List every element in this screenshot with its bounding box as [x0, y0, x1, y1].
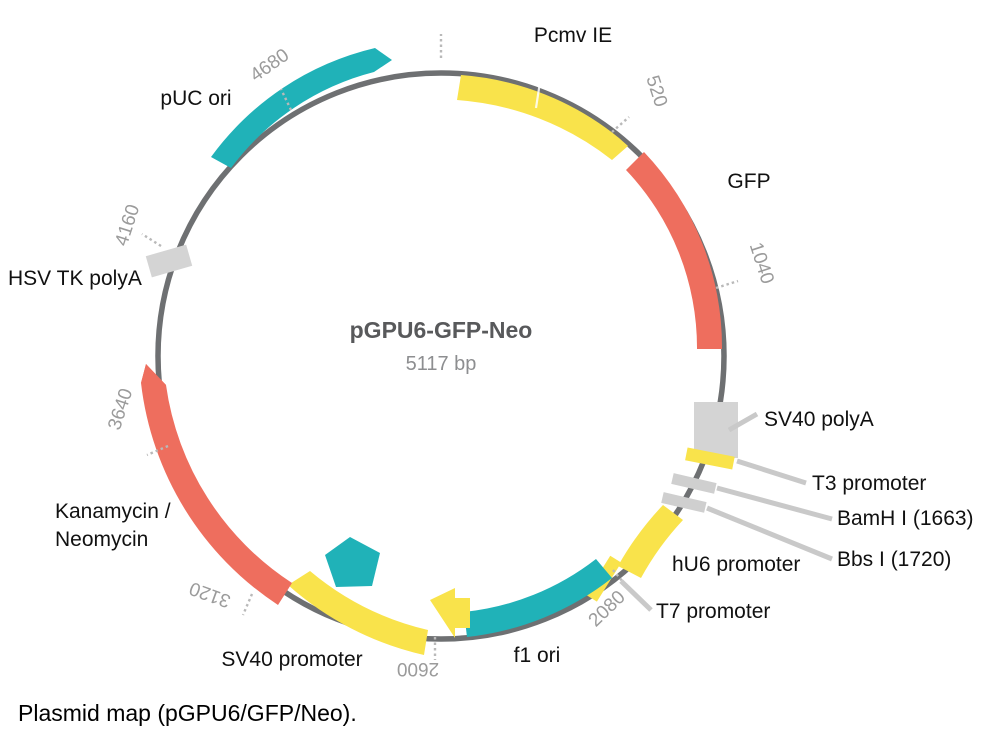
- feature-kanamycin-neomycin[interactable]: [141, 364, 292, 605]
- label-pcmv-ie: Pcmv IE: [534, 24, 612, 47]
- figure-caption: Plasmid map (pGPU6/GFP/Neo).: [18, 700, 357, 727]
- tick-label-3120: 3120: [187, 577, 234, 611]
- feature-pentagon-marker[interactable]: [325, 537, 380, 587]
- label-sv40-promoter: SV40 promoter: [221, 648, 362, 671]
- plasmid-size: 5117 bp: [406, 353, 477, 375]
- label-puc-ori: pUC ori: [160, 87, 231, 110]
- tick-label-1040: 1040: [745, 240, 778, 287]
- plasmid-name: pGPU6-GFP-Neo: [350, 317, 533, 343]
- plasmid-map-figure: 520 1040 2080 2600 3120 3640 4160 4680 P…: [0, 0, 982, 744]
- label-sv40-polya: SV40 polyA: [764, 408, 874, 431]
- tick-label-4680: 4680: [247, 45, 294, 86]
- label-f1-ori: f1 ori: [514, 644, 561, 667]
- label-bbsi-site: Bbs I (1720): [837, 548, 951, 571]
- feature-pcmv-ie[interactable]: [457, 75, 628, 160]
- label-hsv-tk-polya: HSV TK polyA: [8, 267, 142, 290]
- tick-label-3640: 3640: [104, 386, 137, 433]
- feature-small-yellow-arrow[interactable]: [430, 588, 470, 638]
- label-bamhi-site: BamH I (1663): [837, 507, 974, 530]
- tick-label-520: 520: [641, 73, 671, 110]
- tick-label-4160: 4160: [111, 202, 144, 249]
- label-kanamycin: Kanamycin /: [55, 500, 171, 523]
- tick-label-2600: 2600: [397, 658, 439, 679]
- label-neomycin: Neomycin: [55, 528, 148, 551]
- label-gfp: GFP: [727, 170, 770, 193]
- center-label-group: pGPU6-GFP-Neo 5117 bp: [350, 317, 533, 375]
- feature-labels: Pcmv IE GFP SV40 polyA T3 promoter BamH …: [8, 24, 974, 671]
- label-t7-promoter: T7 promoter: [656, 600, 770, 623]
- plasmid-map-canvas: 520 1040 2080 2600 3120 3640 4160 4680 P…: [0, 0, 982, 744]
- restriction-site-bamhi[interactable]: [671, 473, 716, 494]
- feature-gfp[interactable]: [626, 152, 722, 349]
- leader-t3-promoter: [737, 461, 806, 483]
- label-t3-promoter: T3 promoter: [812, 472, 926, 495]
- label-hu6-promoter: hU6 promoter: [672, 553, 800, 576]
